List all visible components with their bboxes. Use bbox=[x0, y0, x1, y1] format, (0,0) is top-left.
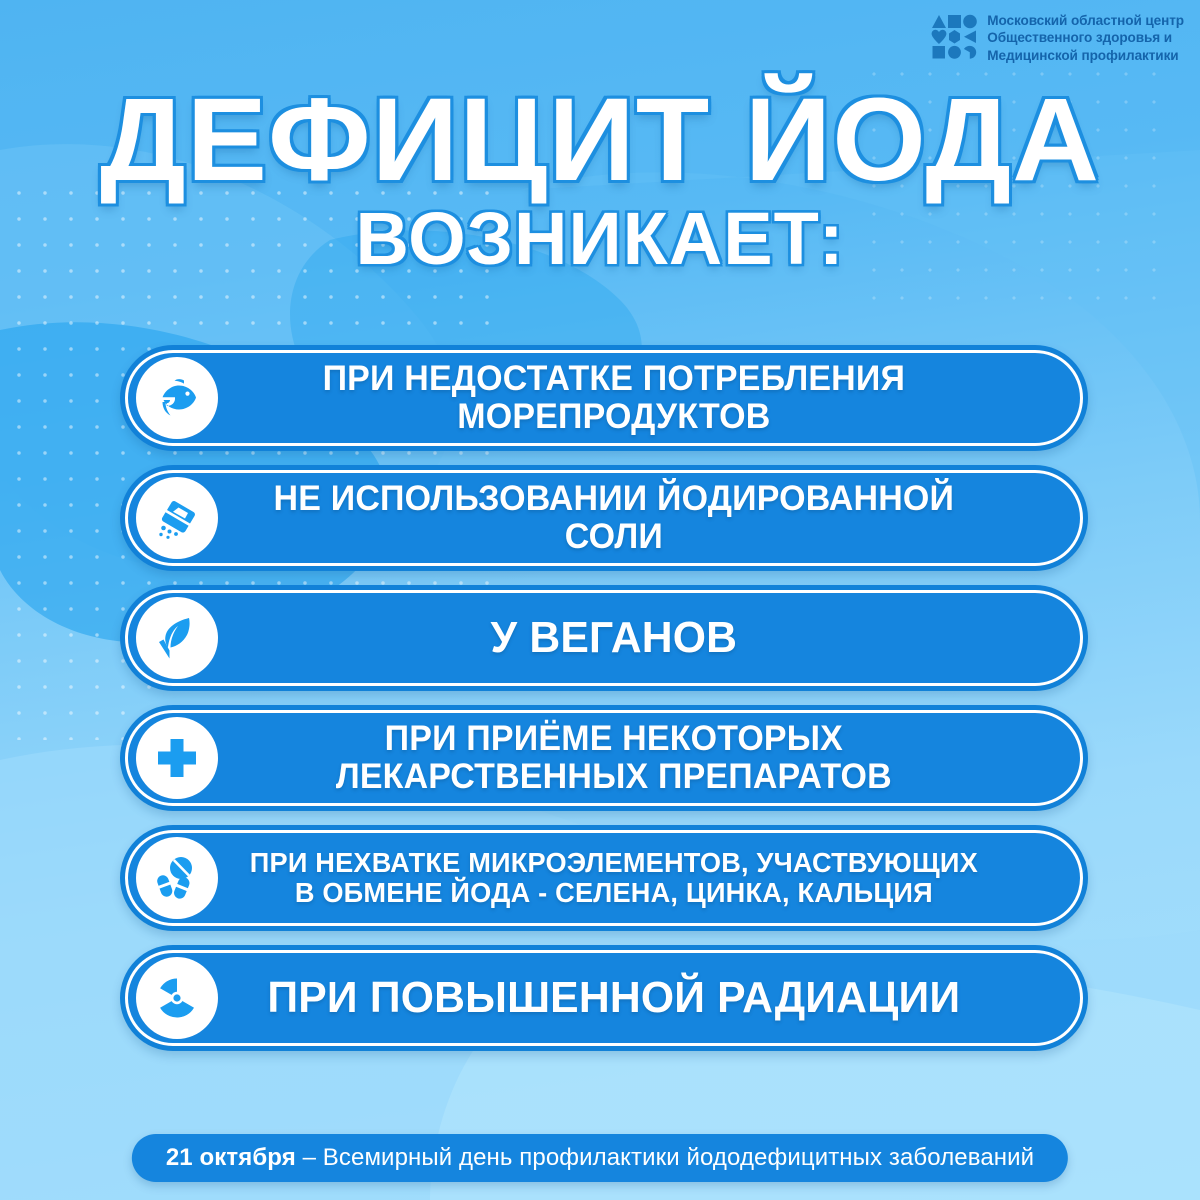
footer-message: Всемирный день профилактики йододефицитн… bbox=[323, 1144, 1034, 1171]
radiation-icon bbox=[136, 957, 218, 1039]
pills-icon bbox=[136, 837, 218, 919]
salt-shaker-icon bbox=[136, 477, 218, 559]
page-title: ДЕФИЦИТ ЙОДА bbox=[0, 86, 1200, 196]
fish-icon bbox=[136, 357, 218, 439]
organization-name: Московский областной центр Общественного… bbox=[987, 12, 1184, 64]
medical-cross-icon bbox=[136, 717, 218, 799]
list-item: У ВЕГАНОВ bbox=[120, 585, 1088, 691]
list-item-label: ПРИ НЕДОСТАТКЕ ПОТРЕБЛЕНИЯ МОРЕПРОДУКТОВ bbox=[240, 360, 1041, 436]
footer-banner: 21 октября – Всемирный день профилактики… bbox=[132, 1134, 1068, 1182]
leaf-check-icon bbox=[136, 597, 218, 679]
list-item: ПРИ НЕДОСТАТКЕ ПОТРЕБЛЕНИЯ МОРЕПРОДУКТОВ bbox=[120, 345, 1088, 451]
list-item: ПРИ ПРИЁМЕ НЕКОТОРЫХ ЛЕКАРСТВЕННЫХ ПРЕПА… bbox=[120, 705, 1088, 811]
page-subtitle: ВОЗНИКАЕТ: bbox=[0, 202, 1200, 276]
list-item: ПРИ ПОВЫШЕННОЙ РАДИАЦИИ bbox=[120, 945, 1088, 1051]
list-item-label: ПРИ ПРИЁМЕ НЕКОТОРЫХ ЛЕКАРСТВЕННЫХ ПРЕПА… bbox=[240, 720, 1041, 796]
footer-separator: – bbox=[296, 1144, 323, 1171]
list-item: НЕ ИСПОЛЬЗОВАНИИ ЙОДИРОВАННОЙ СОЛИ bbox=[120, 465, 1088, 571]
poster-canvas: Московский областной центр Общественного… bbox=[0, 0, 1200, 1200]
list-item-label: ПРИ ПОВЫШЕННОЙ РАДИАЦИИ bbox=[240, 974, 1041, 1022]
headline-group: ДЕФИЦИТ ЙОДА ВОЗНИКАЕТ: bbox=[0, 86, 1200, 276]
list-item-label: ПРИ НЕХВАТКЕ МИКРОЭЛЕМЕНТОВ, УЧАСТВУЮЩИХ… bbox=[240, 848, 1041, 908]
list-item-label: У ВЕГАНОВ bbox=[240, 614, 1041, 662]
list-item-label: НЕ ИСПОЛЬЗОВАНИИ ЙОДИРОВАННОЙ СОЛИ bbox=[240, 480, 1041, 556]
logo-mark-icon bbox=[931, 14, 977, 62]
footer-date: 21 октября bbox=[166, 1144, 296, 1171]
organization-logo: Московский областной центр Общественного… bbox=[931, 12, 1184, 64]
causes-list: ПРИ НЕДОСТАТКЕ ПОТРЕБЛЕНИЯ МОРЕПРОДУКТОВ bbox=[120, 345, 1088, 1065]
footer-text: 21 октября – Всемирный день профилактики… bbox=[166, 1145, 1034, 1171]
list-item: ПРИ НЕХВАТКЕ МИКРОЭЛЕМЕНТОВ, УЧАСТВУЮЩИХ… bbox=[120, 825, 1088, 931]
